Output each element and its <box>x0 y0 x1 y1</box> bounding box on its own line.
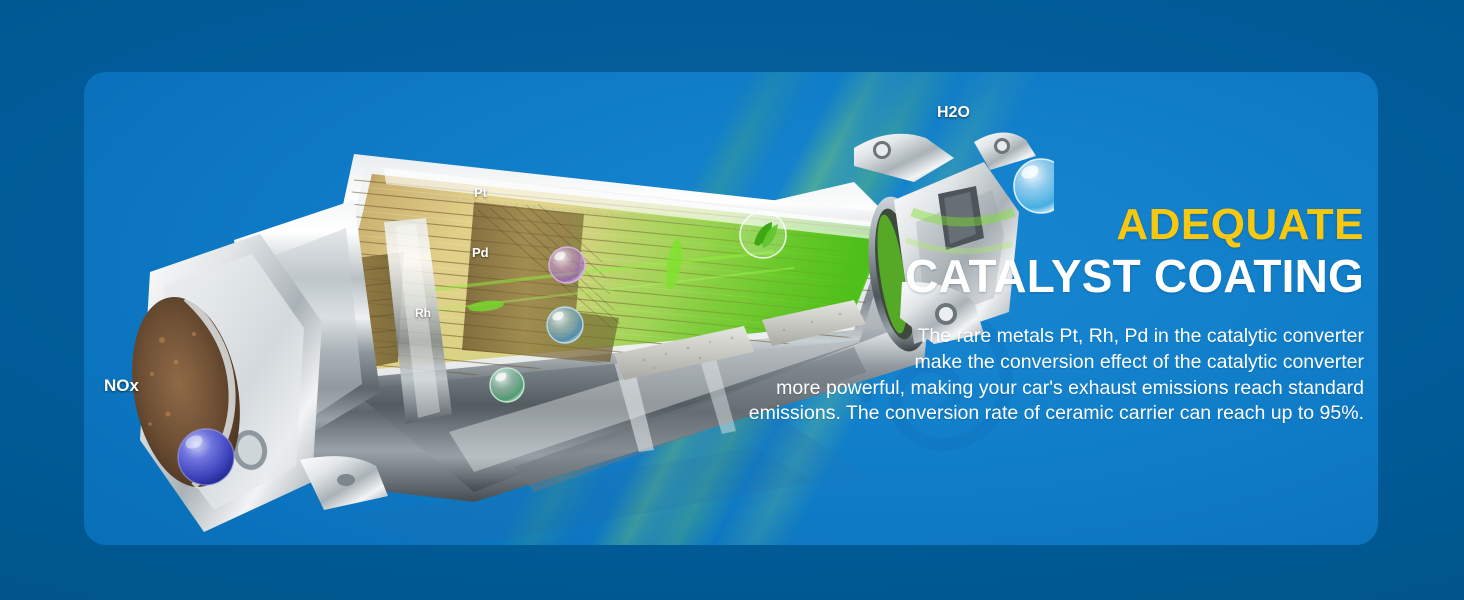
headline-line-1: ADEQUATE <box>714 202 1364 249</box>
promo-card: Pt Pd Rh H2O NOx ADEQUATE CATALYST COATI… <box>84 72 1378 545</box>
body-line-3: more powerful, making your car's exhaust… <box>714 376 1364 402</box>
marker-pd <box>547 307 583 343</box>
page-background: Pt Pd Rh H2O NOx ADEQUATE CATALYST COATI… <box>0 0 1464 600</box>
body-line-2: make the conversion effect of the cataly… <box>714 350 1364 376</box>
headline-block: ADEQUATE CATALYST COATING The rare metal… <box>714 202 1364 427</box>
inlet-flange <box>118 200 388 532</box>
body-line-4: emissions. The conversion rate of cerami… <box>714 401 1364 427</box>
body-paragraph: The rare metals Pt, Rh, Pd in the cataly… <box>714 324 1364 427</box>
marker-rh <box>490 368 524 402</box>
body-line-1: The rare metals Pt, Rh, Pd in the cataly… <box>714 324 1364 350</box>
headline-line-2: CATALYST COATING <box>714 251 1364 303</box>
marker-pt <box>549 247 585 283</box>
marker-nox <box>178 429 234 485</box>
